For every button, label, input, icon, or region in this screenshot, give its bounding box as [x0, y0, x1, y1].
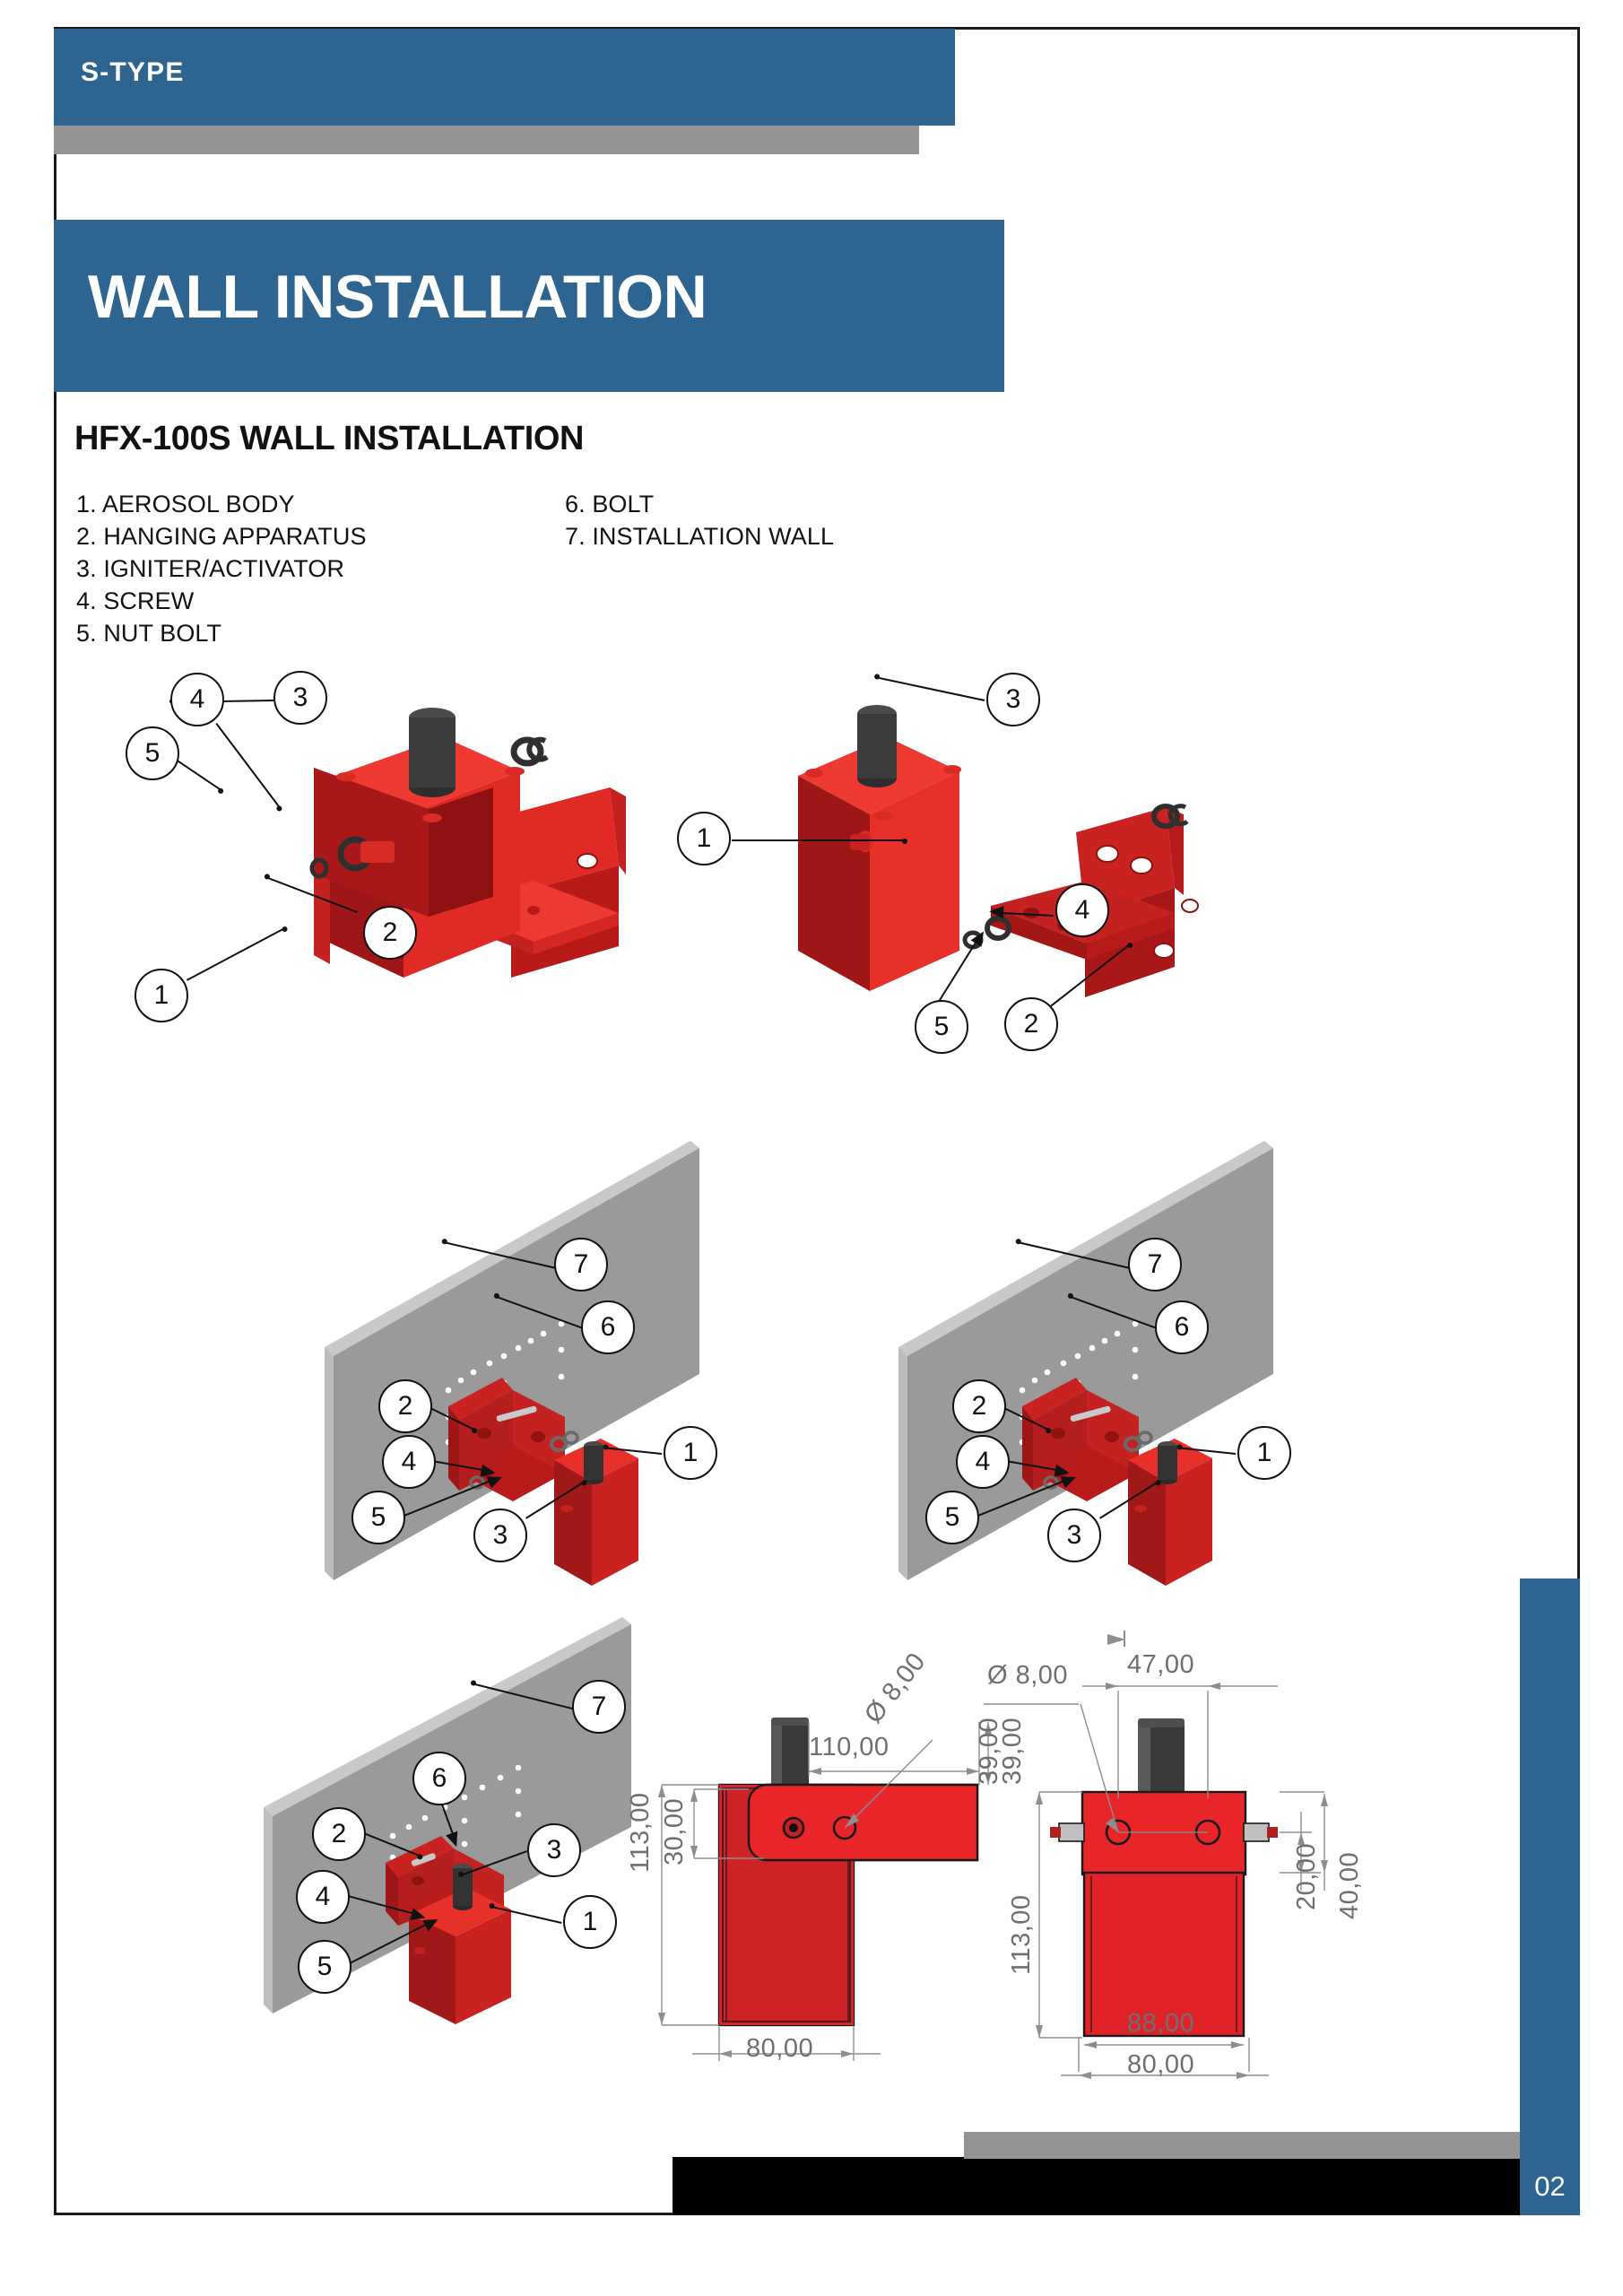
figure-front-view-dimensioned: 47,00 Ø 8,00 39,00 113,00 20,00 40,00 88… — [973, 1605, 1376, 2090]
section-title-block: WALL INSTALLATION — [54, 220, 1004, 392]
callout-7: 7 — [554, 1238, 608, 1291]
callout-3: 3 — [527, 1823, 581, 1877]
figure-wall-mount-step1-right: 7 6 2 4 5 3 1 — [843, 1121, 1345, 1605]
list-item: 7. INSTALLATION WALL — [565, 521, 834, 553]
parts-list-right-column: 6. BOLT 7. INSTALLATION WALL — [565, 489, 834, 553]
callout-1: 1 — [135, 969, 188, 1022]
callout-1: 1 — [677, 812, 731, 865]
product-type-header-bar: S-TYPE — [54, 29, 955, 126]
dim-outer-width: 88,00 — [1127, 2009, 1194, 2039]
figure-exploded-assembly-front: 4 5 3 2 1 — [224, 682, 673, 1067]
page-title: WALL INSTALLATION — [88, 266, 707, 327]
callout-5: 5 — [126, 726, 179, 780]
callout-6: 6 — [581, 1300, 635, 1354]
leader-line-1 — [732, 839, 907, 841]
callout-1: 1 — [1237, 1426, 1291, 1480]
callout-4: 4 — [296, 1870, 350, 1924]
callout-2: 2 — [1004, 997, 1058, 1051]
callout-4: 4 — [170, 673, 224, 726]
callout-4: 4 — [1055, 883, 1109, 937]
dim-body-width: 80,00 — [1127, 2050, 1194, 2080]
dim-hole-diameter: Ø 8,00 — [987, 1661, 1068, 1691]
footer-black-bar — [673, 2157, 1580, 2215]
fig2-drawing — [744, 682, 1246, 1076]
dim-bracket-offset: 39,00 — [975, 1718, 1004, 1785]
callout-4: 4 — [382, 1435, 436, 1489]
list-item: 4. SCREW — [76, 586, 367, 618]
callout-3: 3 — [1047, 1509, 1101, 1562]
callout-2: 2 — [952, 1379, 1006, 1433]
callout-4: 4 — [956, 1435, 1010, 1489]
product-type-label: S-TYPE — [81, 57, 185, 88]
fig1-drawing — [224, 682, 673, 1067]
list-item: 2. HANGING APPARATUS — [76, 521, 367, 553]
header-gray-accent-bar — [54, 126, 919, 154]
dim-height-total: 113,00 — [1007, 1894, 1037, 1975]
callout-5: 5 — [352, 1491, 405, 1544]
list-item: 5. NUT BOLT — [76, 618, 367, 650]
list-item: 3. IGNITER/ACTIVATOR — [76, 553, 367, 586]
footer-gray-bar — [964, 2132, 1580, 2159]
dim-hole-spacing: 47,00 — [1127, 1650, 1194, 1680]
parts-list-left-column: 1. AEROSOL BODY 2. HANGING APPARATUS 3. … — [76, 489, 367, 650]
callout-7: 7 — [1128, 1238, 1182, 1291]
dim-height-total: 113,00 — [626, 1792, 655, 1873]
dim-depth: 110,00 — [809, 1733, 890, 1762]
figure-wall-mount-step1-left: 7 6 2 4 5 3 1 — [269, 1121, 771, 1605]
side-accent-bar — [1520, 1578, 1580, 2215]
fig6-drawing — [637, 1605, 1013, 2072]
subtitle: HFX-100S WALL INSTALLATION — [74, 420, 584, 458]
callout-2: 2 — [378, 1379, 432, 1433]
list-item: 6. BOLT — [565, 489, 834, 521]
callout-1: 1 — [563, 1895, 617, 1949]
callout-2: 2 — [363, 906, 417, 960]
callout-3: 3 — [473, 1509, 527, 1562]
callout-1: 1 — [664, 1426, 717, 1480]
dim-hole-inset: 20,00 — [1292, 1843, 1322, 1910]
callout-3: 3 — [986, 673, 1040, 726]
callout-5: 5 — [915, 1000, 968, 1054]
figure-side-view-dimensioned: 113,00 30,00 110,00 39,00 Ø 8,00 80,00 — [637, 1605, 1013, 2072]
dim-bracket-width: 40,00 — [1335, 1852, 1365, 1919]
callout-7: 7 — [572, 1680, 626, 1734]
callout-6: 6 — [1155, 1300, 1209, 1354]
dim-width: 80,00 — [746, 2034, 813, 2064]
callout-5: 5 — [298, 1940, 352, 1994]
list-item: 1. AEROSOL BODY — [76, 489, 367, 521]
dim-bracket-height: 30,00 — [660, 1798, 690, 1865]
page-number: 02 — [1520, 2157, 1580, 2215]
callout-2: 2 — [312, 1807, 366, 1861]
callout-5: 5 — [925, 1491, 979, 1544]
callout-6: 6 — [412, 1752, 466, 1805]
callout-3: 3 — [273, 671, 327, 725]
figure-exploded-assembly-separated: 1 3 4 5 2 — [744, 682, 1246, 1076]
